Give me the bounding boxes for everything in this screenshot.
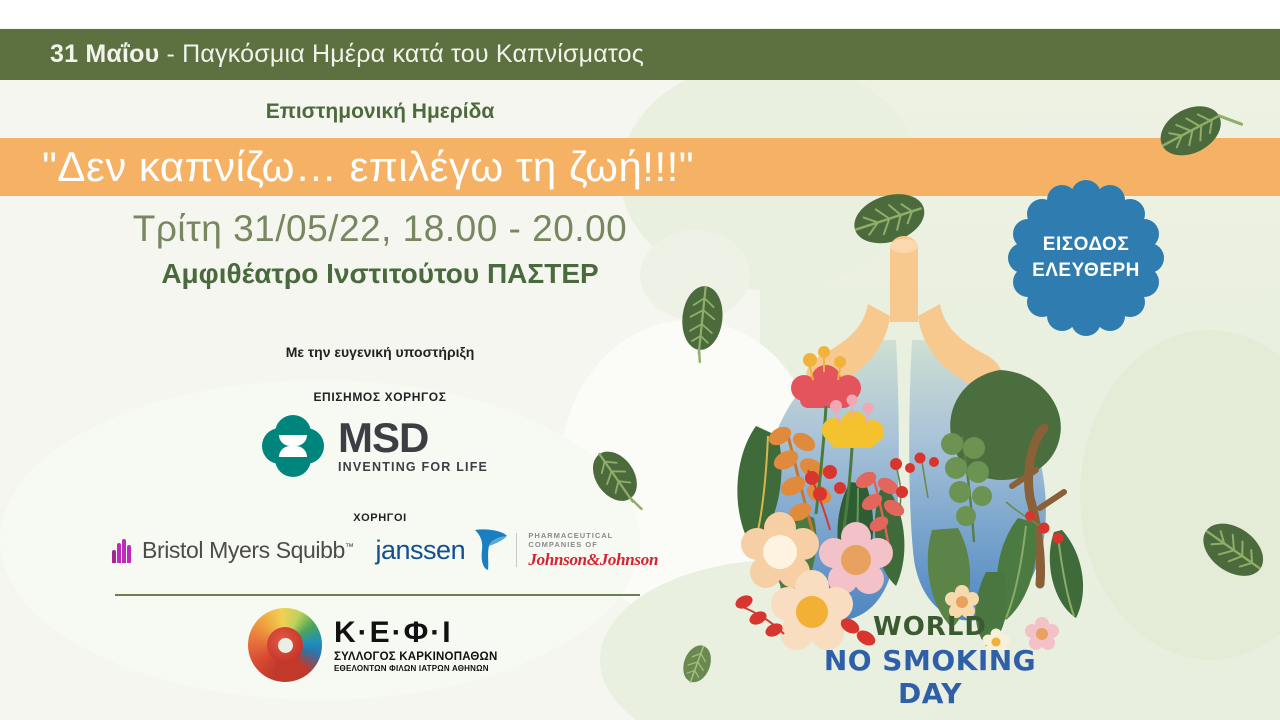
caption-no-smoking-day: NO SMOKING DAY [790,644,1070,710]
header-subtitle: - Παγκόσμια Ημέρα κατά του Καπνίσματος [159,40,644,68]
msd-logo: MSD INVENTING FOR LIFE [262,415,488,477]
event-venue: Αμφιθέατρο Ινστιτούτου ΠΑΣΤΕΡ [0,258,760,290]
johnson-johnson-logo: PHARMACEUTICAL COMPANIES OF Johnson&John… [528,531,663,570]
janssen-logo: janssen PHARMACEUTICAL COMPANIES OF John… [376,528,664,572]
msd-name: MSD [338,418,488,458]
kefi-spiral-icon [248,608,322,682]
kefi-wordmark: Κ·Ε·Φ·Ι ΣΥΛΛΟΓΟΣ ΚΑΡΚΙΝΟΠΑΘΩΝ ΕΘΕΛΟΝΤΩΝ … [334,618,497,673]
header-band: 31 Μαΐου - Παγκόσμια Ημέρα κατά του Καπν… [0,29,1280,80]
janssen-name: janssen [376,535,466,566]
msd-mark-icon [262,415,324,477]
free-entry-badge[interactable]: ΕΙΣΟΔΟΣ ΕΛΕΥΘΕΡΗ [1006,178,1166,338]
header-date: 31 Μαΐου [50,40,159,68]
event-datetime: Τρίτη 31/05/22, 18.00 - 20.00 [0,208,760,250]
bms-wordmark: Bristol Myers Squibb™ [142,537,354,564]
poster-canvas: 31 Μαΐου - Παγκόσμια Ημέρα κατά του Καπν… [0,0,1280,720]
badge-label: ΕΙΣΟΔΟΣ ΕΛΕΥΘΕΡΗ [1006,178,1166,338]
kefi-line-1: ΣΥΛΛΟΓΟΣ ΚΑΡΚΙΝΟΠΑΘΩΝ [334,651,497,663]
event-type-label: Επιστημονική Ημερίδα [0,100,760,124]
leaf-icon-5 [585,440,655,525]
support-label: Με την ευγενική υποστήριξη [0,344,760,360]
section-divider [115,594,640,596]
badge-line-2: ΕΛΕΥΘΕΡΗ [1032,258,1140,284]
kefi-acronym: Κ·Ε·Φ·Ι [334,618,497,648]
bms-trademark: ™ [345,541,354,551]
event-title: "Δεν καπνίζω… επιλέγω τη ζωή!!!" [42,143,694,191]
artwork-caption: WORLD NO SMOKING DAY [790,612,1070,710]
header-text: 31 Μαΐου - Παγκόσμια Ημέρα κατά του Καπν… [50,40,644,69]
jj-eyebrow: PHARMACEUTICAL COMPANIES OF [528,531,663,549]
bristol-myers-squibb-logo: Bristol Myers Squibb™ [112,537,354,564]
sponsor-logo-row: Bristol Myers Squibb™ janssen PHARMACEUT… [112,528,652,572]
leaf-icon-2 [1185,510,1280,605]
jj-name: Johnson&Johnson [528,550,663,570]
bms-mark-icon [112,537,134,563]
kefi-logo: Κ·Ε·Φ·Ι ΣΥΛΛΟΓΟΣ ΚΑΡΚΙΝΟΠΑΘΩΝ ΕΘΕΛΟΝΤΩΝ … [248,608,497,682]
logo-divider [516,533,517,567]
kefi-line-2: ΕΘΕΛΟΝΤΩΝ ΦΙΛΩΝ ΙΑΤΡΩΝ ΑΘΗΝΩΝ [334,664,497,673]
bms-name: Bristol Myers Squibb [142,537,345,563]
janssen-swoosh-icon [469,528,503,572]
msd-wordmark: MSD INVENTING FOR LIFE [338,418,488,475]
caption-world: WORLD [790,612,1070,642]
msd-tagline: INVENTING FOR LIFE [338,460,488,474]
badge-line-1: ΕΙΣΟΔΟΣ [1043,232,1129,258]
official-sponsor-label: ΕΠΙΣΗΜΟΣ ΧΟΡΗΓΟΣ [0,390,760,404]
leaf-icon-1 [1150,90,1245,180]
